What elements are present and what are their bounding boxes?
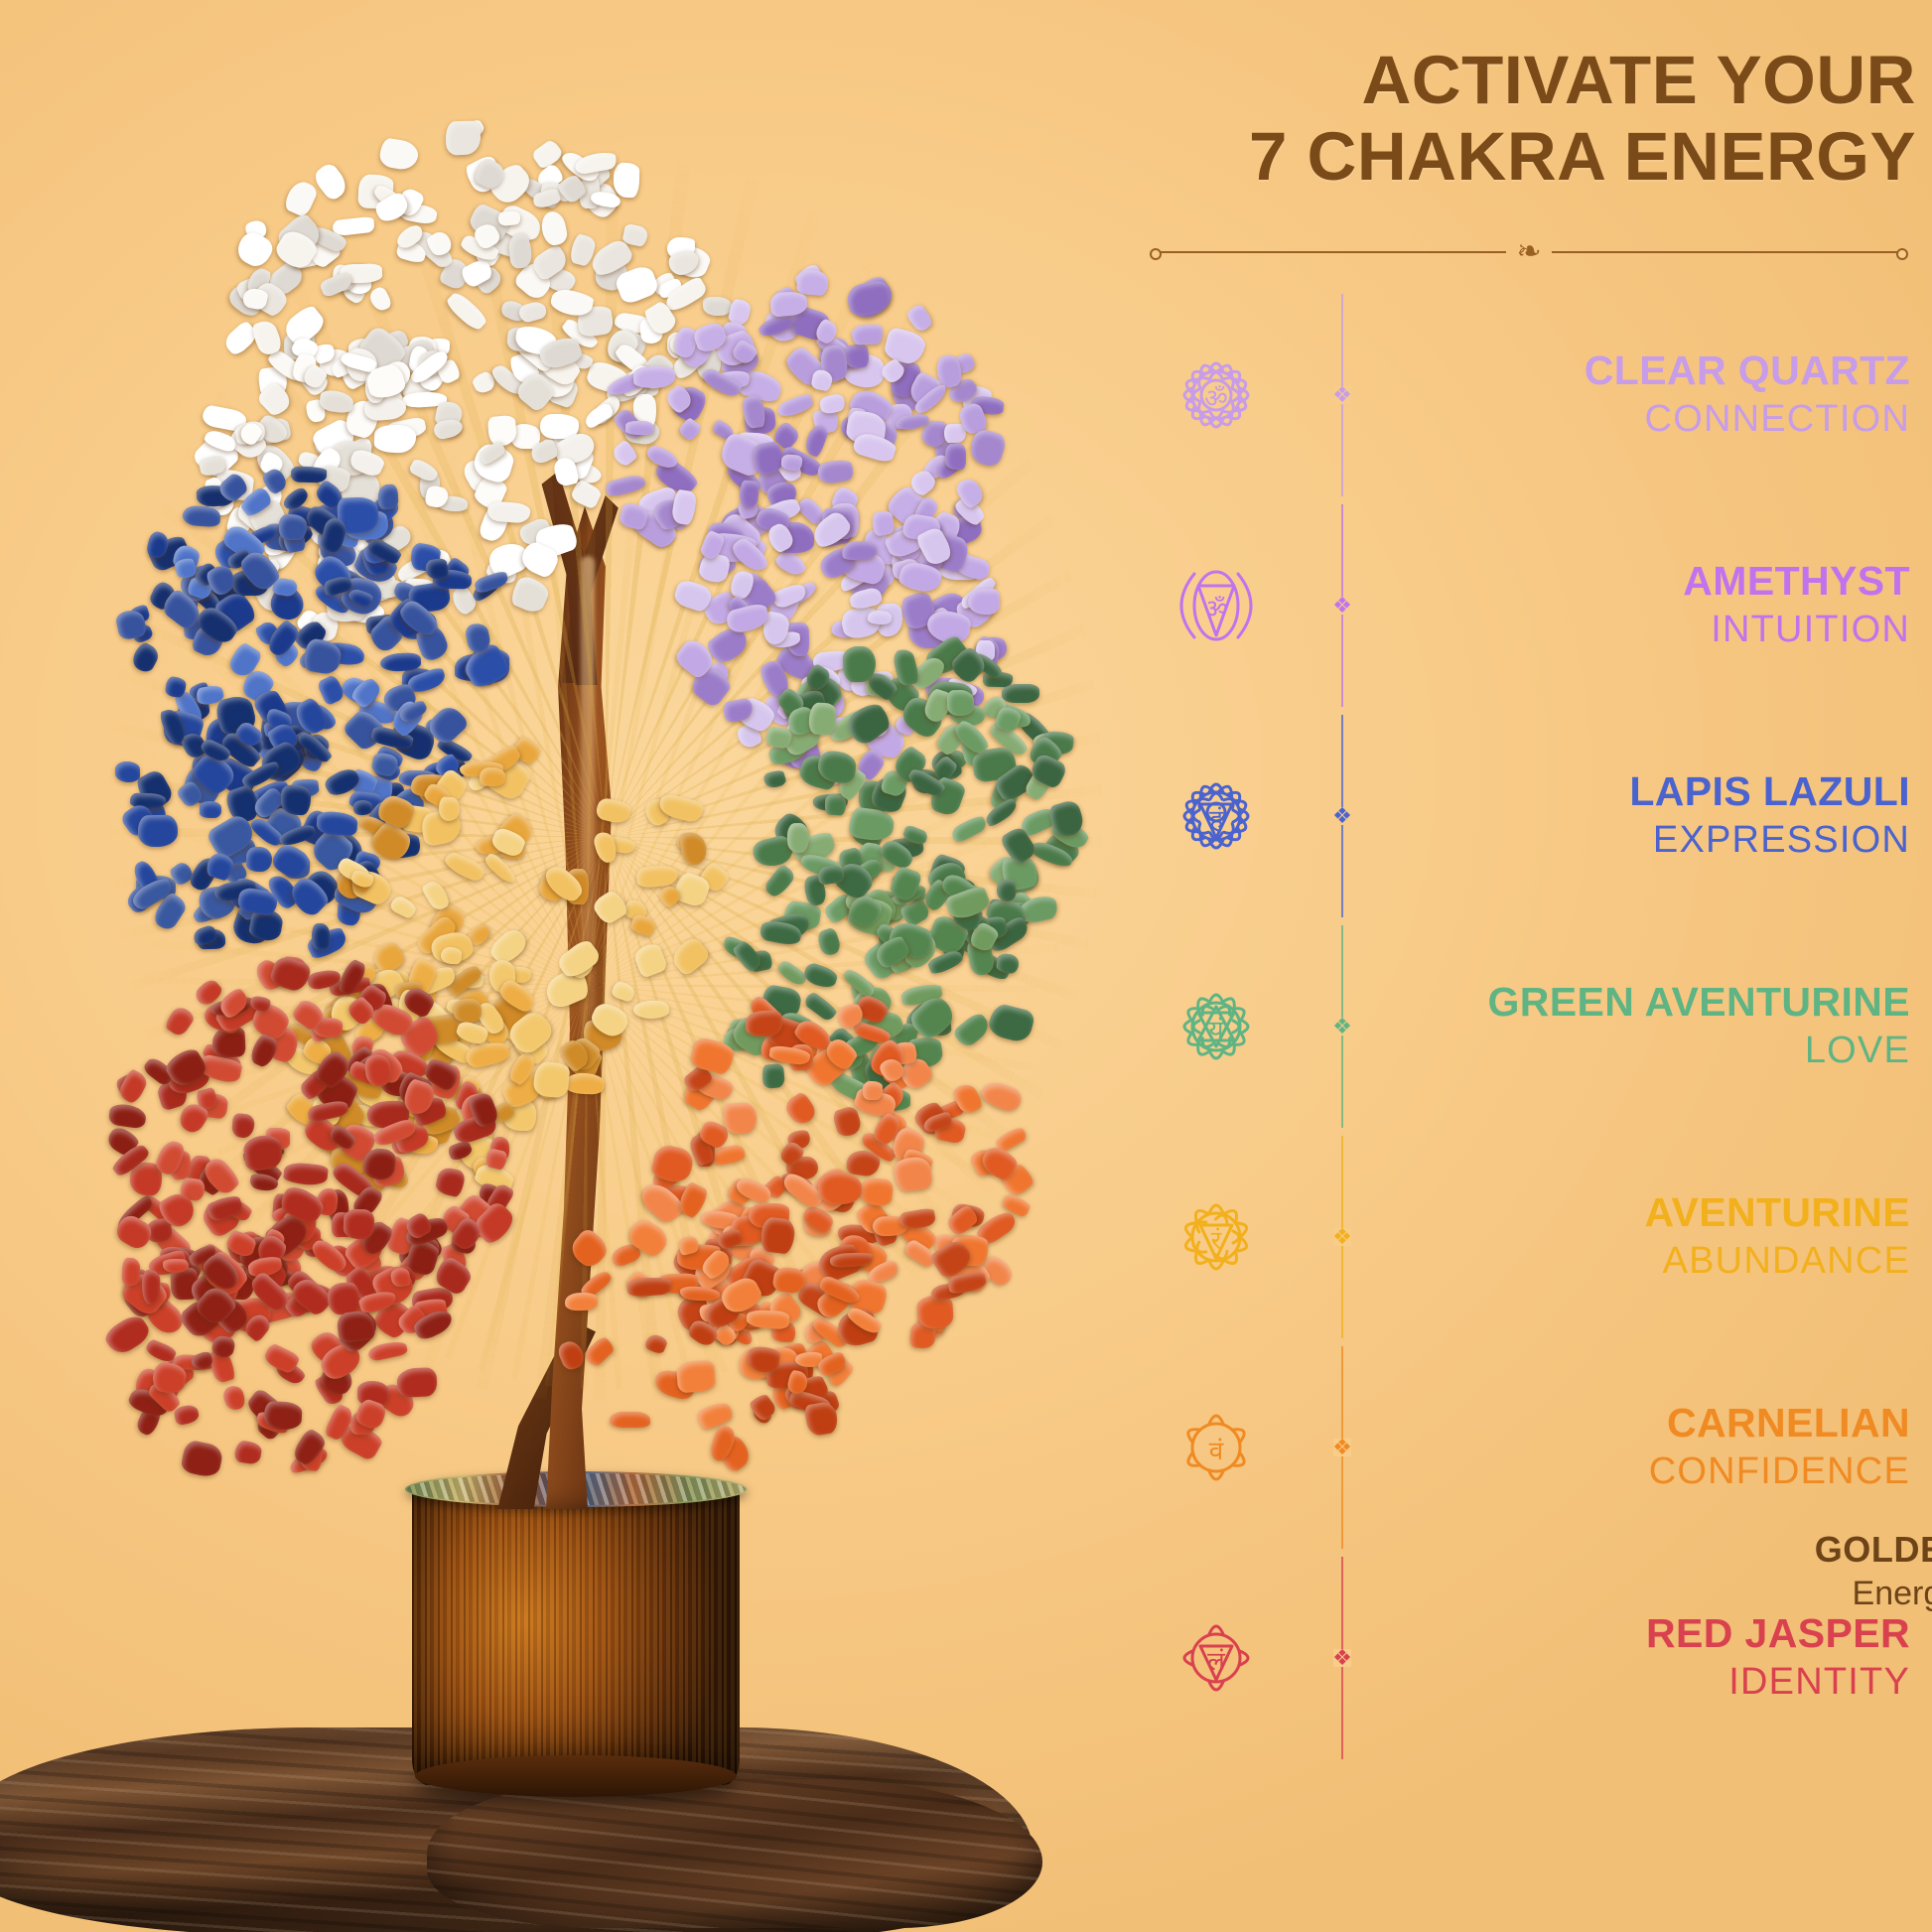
stone-keyword: EXPRESSION	[1374, 818, 1910, 863]
svg-text:वं: वं	[1209, 1436, 1224, 1465]
stone-name: RED JASPER	[1374, 1611, 1910, 1655]
gemstone-chip	[625, 421, 654, 436]
row-divider-diamond-icon: ❖	[1333, 1649, 1351, 1667]
gemstone-chip	[808, 702, 837, 735]
gemstone-chip	[863, 1081, 883, 1100]
chakra-text: AMETHYST INTUITION	[1374, 559, 1932, 651]
divider-line-right	[1552, 251, 1906, 253]
gemstone-chip	[291, 467, 327, 483]
stone-keyword: ABUNDANCE	[1374, 1239, 1910, 1284]
gemstone-chip	[454, 999, 482, 1022]
title-line-2: 7 CHAKRA ENERGY	[1142, 118, 1916, 195]
gemstone-chip	[233, 1440, 262, 1465]
row-divider-diamond-icon: ❖	[1333, 1018, 1351, 1035]
annotation-label: GOLDEN WIRE	[1777, 1529, 1932, 1571]
gemstone-chip	[122, 1258, 141, 1287]
pot-bottom-edge	[415, 1755, 737, 1797]
gemstone-chip	[378, 484, 399, 510]
stone-keyword: CONNECTION	[1374, 397, 1910, 442]
stone-name: GREEN AVENTURINE	[1374, 980, 1910, 1024]
title-divider: ❧	[1152, 241, 1906, 263]
gemstone-chip	[112, 1211, 156, 1253]
svg-text:लं: लं	[1207, 1646, 1225, 1676]
root-chakra-muladhara-icon: लं	[1122, 1596, 1311, 1720]
stone-keyword: LOVE	[1374, 1029, 1910, 1073]
stone-name: CARNELIAN	[1374, 1401, 1910, 1445]
chakra-mandala-icon: वं	[1155, 1386, 1278, 1509]
gemstone-chip	[378, 137, 420, 172]
stone-name: LAPIS LAZULI	[1374, 769, 1910, 813]
gemstone-chip	[497, 210, 520, 226]
golden-wire-annotation: GOLDEN WIRE Energy Flow	[1777, 1529, 1932, 1613]
row-divider-diamond-icon: ❖	[1333, 386, 1351, 404]
gemstone-chip	[781, 454, 803, 471]
svg-text:रं: रं	[1211, 1225, 1223, 1255]
solar-plexus-chakra-manipura-icon: रं	[1122, 1175, 1311, 1299]
chakra-mandala-icon: रं	[1155, 1175, 1278, 1299]
chakra-text: AVENTURINE ABUNDANCE	[1374, 1190, 1932, 1283]
gemstone-chip	[614, 163, 640, 198]
divider-ornament-icon: ❧	[1516, 243, 1541, 261]
gemstone-chip	[968, 589, 1000, 615]
gemstone-chip	[945, 444, 966, 470]
gemstone-chip	[703, 297, 733, 317]
stone-keyword: INTUITION	[1374, 608, 1910, 652]
chakra-row-lapis-lazuli[interactable]: हं ❖ LAPIS LAZULI EXPRESSION	[1122, 711, 1932, 921]
annotation-sublabel: Energy Flow	[1777, 1575, 1932, 1613]
gemstone-chip	[871, 509, 896, 536]
gemstone-chip	[115, 761, 140, 782]
row-divider-diamond-icon: ❖	[1333, 1439, 1351, 1456]
stone-keyword: CONFIDENCE	[1374, 1449, 1910, 1494]
gemstone-chip	[565, 1072, 606, 1094]
row-divider-diamond-icon: ❖	[1333, 807, 1351, 825]
stone-name: AVENTURINE	[1374, 1190, 1910, 1234]
gemstone-chip	[947, 690, 974, 716]
gemstone-chip	[116, 1068, 150, 1106]
gemstone-chip	[445, 120, 481, 155]
chakra-mandala-icon: ॐ	[1155, 544, 1278, 667]
gemstone-chip	[263, 1401, 302, 1431]
gemstone-chip	[138, 815, 178, 848]
gemstone-chip	[380, 652, 422, 672]
gemstone-chip	[282, 178, 319, 218]
chakra-mandala-icon: ॐ	[1155, 334, 1278, 457]
gemstone-chip	[311, 922, 331, 950]
page-title: ACTIVATE YOUR 7 CHAKRA ENERGY	[1142, 42, 1916, 196]
svg-text:यं: यं	[1208, 1015, 1224, 1044]
heart-chakra-anahata-icon: यं	[1122, 965, 1311, 1088]
title-line-1: ACTIVATE YOUR	[1142, 42, 1916, 118]
svg-text:हं: हं	[1209, 804, 1224, 834]
gemstone-chip	[374, 424, 417, 453]
chakra-row-green-aventurine[interactable]: यं ❖ GREEN AVENTURINE LOVE	[1122, 921, 1932, 1132]
svg-text:ॐ: ॐ	[1204, 383, 1228, 413]
gemstone-chip	[843, 646, 877, 683]
chakra-text: LAPIS LAZULI EXPRESSION	[1374, 769, 1932, 862]
gemstone-chip	[233, 228, 277, 271]
chakra-text: RED JASPER IDENTITY	[1374, 1611, 1932, 1704]
chakra-text: GREEN AVENTURINE LOVE	[1374, 980, 1932, 1072]
infographic-canvas: ACTIVATE YOUR 7 CHAKRA ENERGY ❧ ॐ ❖ CLEA…	[0, 0, 1932, 1932]
info-panel: ACTIVATE YOUR 7 CHAKRA ENERGY ❧ ॐ ❖ CLEA…	[1122, 0, 1932, 1932]
row-divider: ❖	[1311, 921, 1374, 1132]
gemstone-chip	[281, 785, 312, 816]
row-divider-diamond-icon: ❖	[1333, 1228, 1351, 1246]
gemstone-chip	[852, 324, 884, 345]
chakra-row-aventurine[interactable]: रं ❖ AVENTURINE ABUNDANCE	[1122, 1132, 1932, 1342]
throat-chakra-vishuddha-icon: हं	[1122, 755, 1311, 878]
chakra-text: CARNELIAN CONFIDENCE	[1374, 1401, 1932, 1493]
gemstone-chip	[246, 847, 273, 873]
gemstone-chip	[486, 500, 530, 523]
row-divider-diamond-icon: ❖	[1333, 597, 1351, 615]
sacral-chakra-svadhisthana-icon: वं	[1122, 1386, 1311, 1509]
gemstone-chip	[633, 1000, 670, 1019]
svg-text:ॐ: ॐ	[1204, 594, 1228, 623]
product-photo	[0, 0, 1172, 1932]
chakra-row-clear-quartz[interactable]: ॐ ❖ CLEAR QUARTZ CONNECTION	[1122, 290, 1932, 500]
gemstone-chip	[626, 1277, 671, 1298]
gemstone-chip	[441, 947, 462, 964]
gemstone-chip	[676, 1360, 716, 1394]
gemstone-chip	[893, 1156, 933, 1192]
wooden-log-pot	[412, 1487, 740, 1785]
gemstone-chip	[786, 823, 809, 854]
gemstone-chip	[916, 1295, 954, 1329]
row-divider: ❖	[1311, 500, 1374, 711]
gemstone-chip	[180, 1439, 224, 1478]
third-eye-chakra-ajna-icon: ॐ	[1122, 544, 1311, 667]
row-divider: ❖	[1311, 711, 1374, 921]
gemstone-chip	[102, 1311, 154, 1359]
gemstone-chip	[796, 269, 829, 296]
gemstone-chip	[108, 1103, 148, 1130]
gemstone-chip	[723, 1102, 758, 1135]
chakra-mandala-icon: यं	[1155, 965, 1278, 1088]
divider-line-left	[1152, 251, 1506, 253]
row-divider: ❖	[1311, 1553, 1374, 1763]
gemstone-chip	[344, 1209, 375, 1240]
gemstone-chip	[279, 514, 307, 540]
chakra-mandala-icon: लं	[1155, 1596, 1278, 1720]
gemstone-chip	[610, 1412, 650, 1428]
chakra-mandala-icon: हं	[1155, 755, 1278, 878]
row-divider: ❖	[1311, 1342, 1374, 1553]
stone-name: CLEAR QUARTZ	[1374, 348, 1910, 392]
stone-keyword: IDENTITY	[1374, 1660, 1910, 1705]
chakra-text: CLEAR QUARTZ CONNECTION	[1374, 348, 1932, 441]
gemstone-chip	[311, 161, 351, 203]
gemstone-chip	[327, 1282, 359, 1314]
chakra-row-amethyst[interactable]: ॐ ❖ AMETHYST INTUITION	[1122, 500, 1932, 711]
gemstone-chip	[532, 1060, 570, 1098]
gemstone-chip	[396, 1367, 437, 1398]
driftwood-base-secondary	[427, 1779, 1042, 1928]
gemstone-chip	[761, 1063, 785, 1089]
gemstone-chip	[480, 767, 506, 787]
chakra-row-carnelian[interactable]: वं ❖ CARNELIAN CONFIDENCE	[1122, 1342, 1932, 1553]
gemstone-chip	[200, 801, 221, 818]
gemstone-chip	[173, 1404, 200, 1426]
row-divider: ❖	[1311, 290, 1374, 500]
gemstone-chip	[1002, 684, 1039, 703]
gemstone-chip	[745, 1010, 782, 1037]
gemstone-chip	[221, 1383, 248, 1412]
crown-chakra-sahasrara-icon: ॐ	[1122, 334, 1311, 457]
stone-name: AMETHYST	[1374, 559, 1910, 603]
row-divider: ❖	[1311, 1132, 1374, 1342]
